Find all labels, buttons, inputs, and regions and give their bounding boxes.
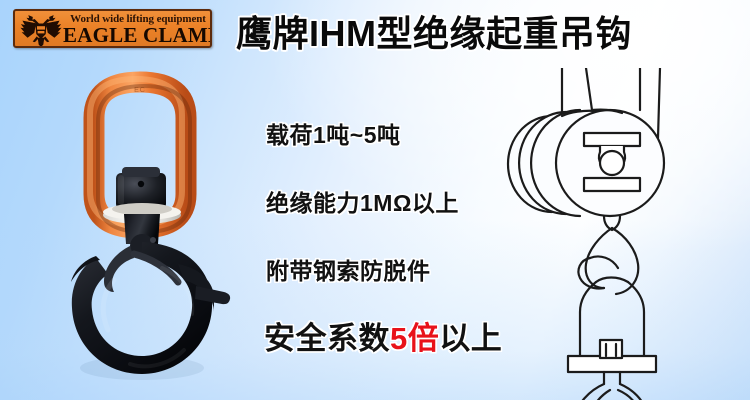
feature-line-load-capacity: 载荷1吨~5吨 xyxy=(266,116,401,150)
eagle-clamp-logo: World wide lifting equipment EAGLE CLAMP xyxy=(13,9,212,48)
safety-factor-suffix: 以上 xyxy=(439,321,502,356)
safety-factor-highlight: 5倍 xyxy=(390,321,439,356)
safety-factor-prefix: 安全系数 xyxy=(264,321,390,356)
product-banner: World wide lifting equipment EAGLE CLAMP… xyxy=(0,0,750,400)
feature-line-safety-factor: 安全系数5倍以上 xyxy=(264,313,502,358)
pulley-block-line-drawing xyxy=(500,68,750,400)
svg-text:EC: EC xyxy=(134,87,146,94)
double-headed-eagle-emblem xyxy=(20,14,62,47)
lower-hook xyxy=(574,384,648,400)
swivel-nut-bolt xyxy=(568,340,656,372)
feature-line-insulation: 绝缘能力1MΩ以上 xyxy=(266,184,459,218)
swivel-nut xyxy=(116,167,166,209)
page-title: 鹰牌IHM型绝缘起重吊钩 xyxy=(236,13,666,55)
feature-line-latch: 附带钢索防脱件 xyxy=(266,252,431,286)
product-photo-insulated-hook: EC 1T xyxy=(38,68,243,388)
hook-body xyxy=(71,242,230,374)
logo-wordmark: EAGLE CLAMP xyxy=(63,24,212,47)
